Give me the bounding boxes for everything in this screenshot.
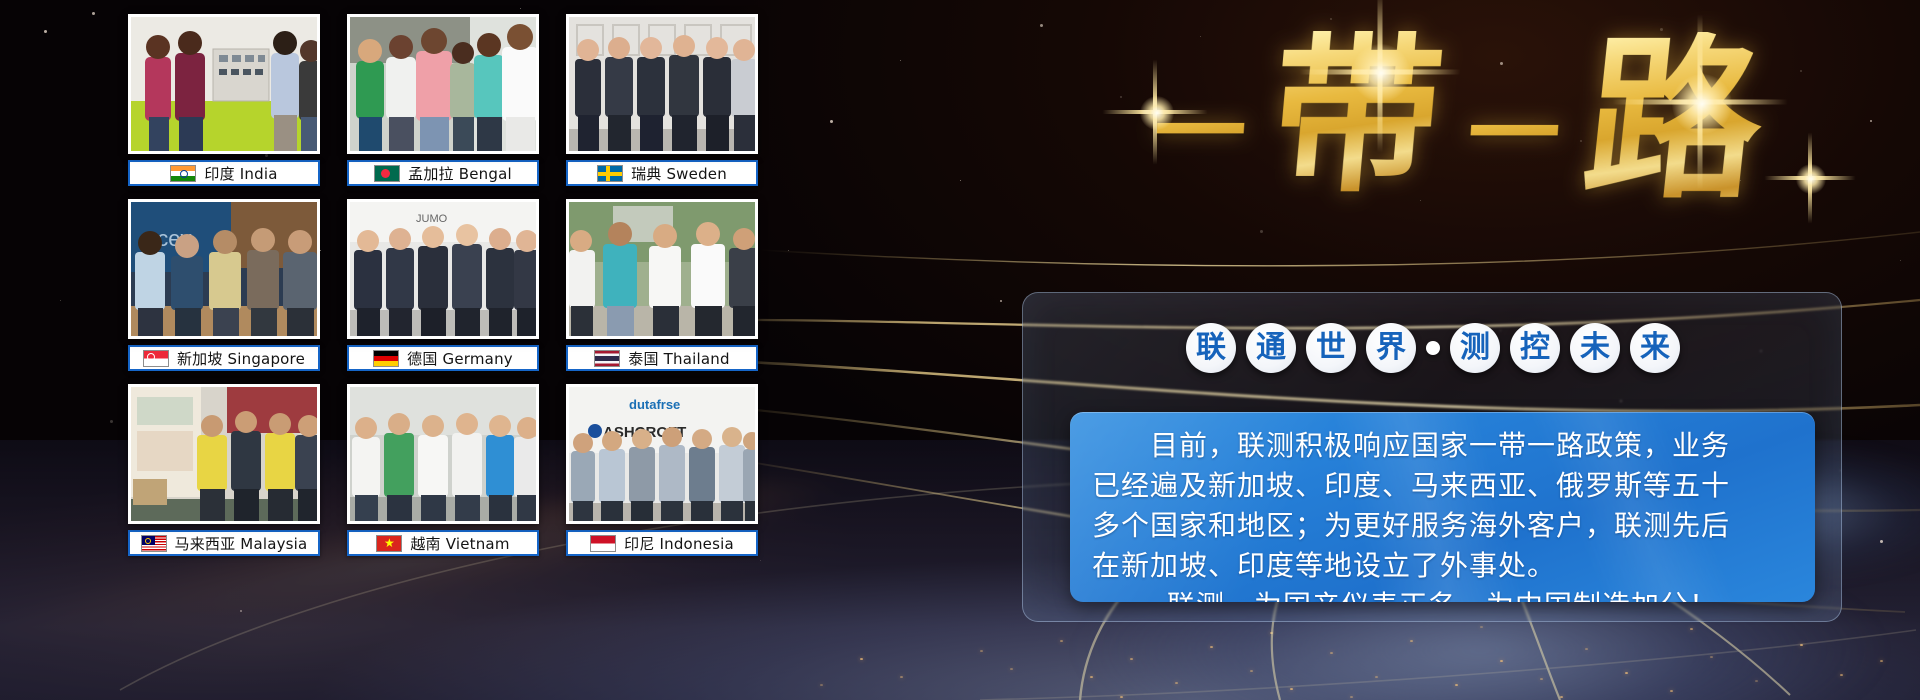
caption-vietnam: 越南 Vietnam xyxy=(347,530,539,556)
slogan-char-5: 测 xyxy=(1450,323,1500,373)
slogan-separator-dot xyxy=(1426,341,1440,355)
headline-char-2: 带 xyxy=(1265,31,1450,201)
caption-germany-text: 德国 Germany xyxy=(407,348,513,369)
caption-thailand-text: 泰国 Thailand xyxy=(628,348,729,369)
headline-char-1: 一 xyxy=(1151,86,1249,178)
photo-sweden xyxy=(566,14,758,154)
caption-sweden-text: 瑞典 Sweden xyxy=(631,163,727,184)
gallery-item-malaysia[interactable]: 马来西亚 Malaysia xyxy=(128,384,320,556)
gallery-item-sweden[interactable]: 瑞典 Sweden xyxy=(566,14,758,186)
flag-singapore-icon xyxy=(143,350,169,367)
caption-india-text: 印度 India xyxy=(204,163,277,184)
caption-bengal-text: 孟加拉 Bengal xyxy=(408,163,512,184)
caption-thailand: 泰国 Thailand xyxy=(566,345,758,371)
slogan-char-3: 世 xyxy=(1306,323,1356,373)
photo-indonesia-image: dutafrse ASHCROFT xyxy=(569,387,755,521)
photo-germany-image: JUMO xyxy=(350,202,536,336)
photo-thailand-image xyxy=(569,202,755,336)
caption-bengal: 孟加拉 Bengal xyxy=(347,160,539,186)
description-line-4: 在新加坡、印度等地设立了外事处。 xyxy=(1092,546,1793,586)
caption-indonesia-text: 印尼 Indonesia xyxy=(624,533,734,554)
slogan-char-4: 界 xyxy=(1366,323,1416,373)
flag-indonesia-icon xyxy=(590,535,616,552)
flag-malaysia-icon xyxy=(141,535,167,552)
description-line-2: 已经遍及新加坡、印度、马来西亚、俄罗斯等五十 xyxy=(1092,466,1793,506)
slogan-char-1: 联 xyxy=(1186,323,1236,373)
flag-vietnam-icon xyxy=(376,535,402,552)
gallery-item-thailand[interactable]: 泰国 Thailand xyxy=(566,199,758,371)
flag-bangladesh-icon xyxy=(374,165,400,182)
photo-singapore-image: ecev xyxy=(131,202,317,336)
photo-bengal-image xyxy=(350,17,536,151)
banner-stage: 印度 India xyxy=(0,0,1920,700)
photo-vietnam-image xyxy=(350,387,536,521)
gallery-item-indonesia[interactable]: dutafrse ASHCROFT 印尼 xyxy=(566,384,758,556)
gallery-item-vietnam[interactable]: 越南 Vietnam xyxy=(347,384,539,556)
gallery-item-bengal[interactable]: 孟加拉 Bengal xyxy=(347,14,539,186)
photo-malaysia-image xyxy=(131,387,317,521)
description-line-1: 目前，联测积极响应国家一带一路政策，业务 xyxy=(1092,426,1793,466)
caption-indonesia: 印尼 Indonesia xyxy=(566,530,758,556)
photo-bengal xyxy=(347,14,539,154)
description-text: 目前，联测积极响应国家一带一路政策，业务 已经遍及新加坡、印度、马来西亚、俄罗斯… xyxy=(1092,426,1793,602)
photo-vietnam xyxy=(347,384,539,524)
photo-indonesia: dutafrse ASHCROFT xyxy=(566,384,758,524)
description-box: 目前，联测积极响应国家一带一路政策，业务 已经遍及新加坡、印度、马来西亚、俄罗斯… xyxy=(1070,412,1815,602)
photo-singapore: ecev xyxy=(128,199,320,339)
caption-germany: 德国 Germany xyxy=(347,345,539,371)
caption-india: 印度 India xyxy=(128,160,320,186)
photo-india-image xyxy=(131,17,317,151)
headline-belt-and-road: 一 带 一 路 xyxy=(1018,6,1898,221)
description-line-3: 多个国家和地区；为更好服务海外客户，联测先后 xyxy=(1092,506,1793,546)
slogan-char-6: 控 xyxy=(1510,323,1560,373)
photo-germany: JUMO xyxy=(347,199,539,339)
caption-malaysia-text: 马来西亚 Malaysia xyxy=(175,533,308,554)
photo-sweden-image xyxy=(569,17,755,151)
country-photo-grid: 印度 India xyxy=(128,14,758,686)
svg-text:dutafrse: dutafrse xyxy=(629,397,680,412)
slogan-char-7: 未 xyxy=(1570,323,1620,373)
photo-thailand xyxy=(566,199,758,339)
photo-india xyxy=(128,14,320,154)
caption-sweden: 瑞典 Sweden xyxy=(566,160,758,186)
caption-malaysia: 马来西亚 Malaysia xyxy=(128,530,320,556)
headline-char-3: 一 xyxy=(1465,88,1563,180)
flag-thailand-icon xyxy=(594,350,620,367)
flag-sweden-icon xyxy=(597,165,623,182)
slogan-char-2: 通 xyxy=(1246,323,1296,373)
flag-india-icon xyxy=(170,165,196,182)
caption-singapore-text: 新加坡 Singapore xyxy=(177,348,305,369)
headline-char-4: 路 xyxy=(1577,32,1772,208)
photo-malaysia xyxy=(128,384,320,524)
gallery-item-singapore[interactable]: ecev 新加坡 Singapore xyxy=(128,199,320,371)
caption-vietnam-text: 越南 Vietnam xyxy=(410,533,509,554)
svg-text:JUMO: JUMO xyxy=(416,213,448,225)
slogan-row: 联 通 世 界 测 控 未 来 xyxy=(1173,318,1693,378)
caption-singapore: 新加坡 Singapore xyxy=(128,345,320,371)
gallery-item-india[interactable]: 印度 India xyxy=(128,14,320,186)
slogan-char-8: 来 xyxy=(1630,323,1680,373)
description-closing-line: 联测，为国产仪表正名，为中国制造加分！ xyxy=(1092,586,1793,602)
gallery-item-germany[interactable]: JUMO 德国 Germany xyxy=(347,199,539,371)
flag-germany-icon xyxy=(373,350,399,367)
